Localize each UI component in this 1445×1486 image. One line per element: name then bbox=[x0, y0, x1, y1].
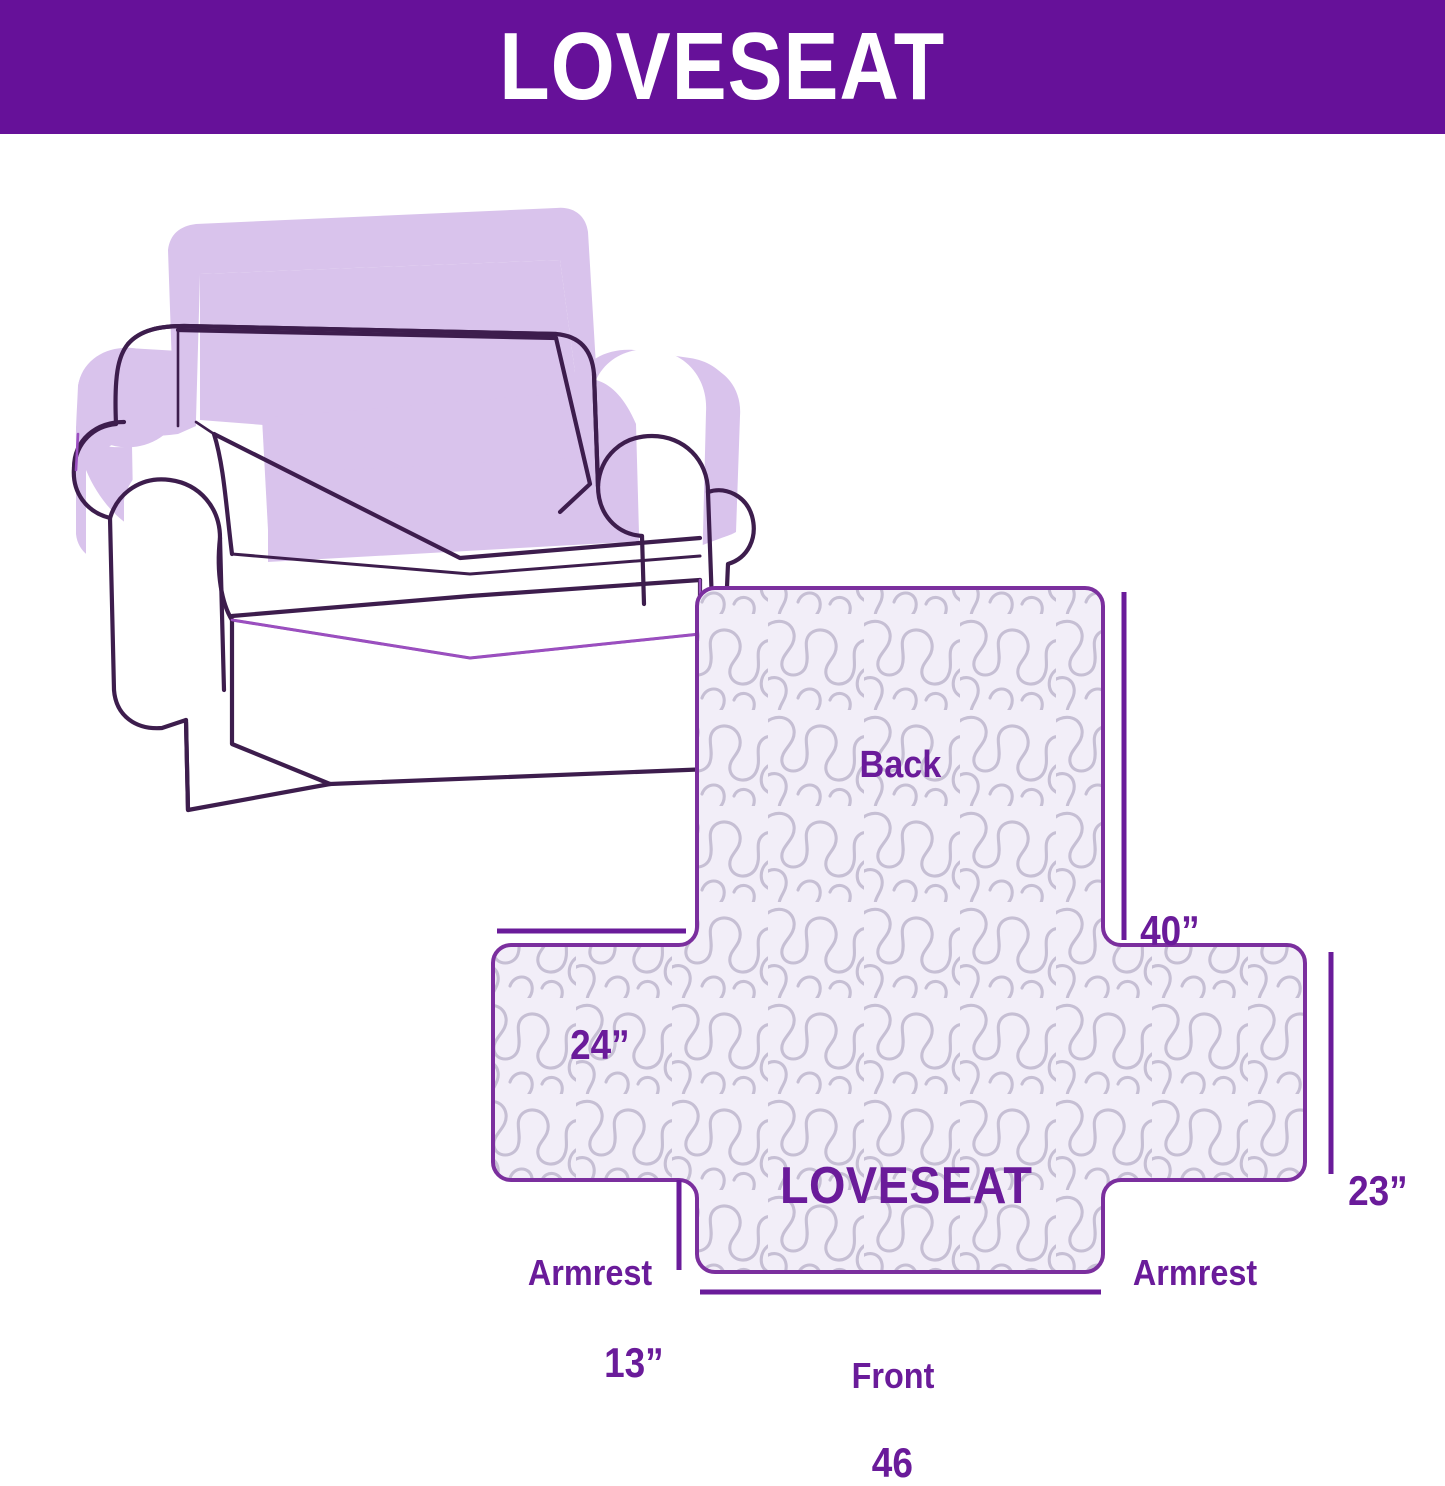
panel-label-loveseat: LOVESEAT bbox=[780, 1160, 1032, 1212]
dimension-label-front-height: 13” bbox=[604, 1342, 664, 1384]
panel-label-armrest-left: Armrest bbox=[528, 1255, 652, 1291]
dimension-label-armrest-height: 23” bbox=[1348, 1170, 1408, 1212]
diagram-stage: Back LOVESEAT Armrest Armrest Front 40” … bbox=[0, 134, 1445, 1445]
dimension-label-back-height: 40” bbox=[1140, 910, 1200, 952]
panel-label-front: Front bbox=[852, 1358, 935, 1394]
dimension-label-back-offset: 24” bbox=[570, 1024, 630, 1066]
panel-label-back: Back bbox=[860, 746, 942, 784]
diagram-canvas bbox=[0, 134, 1445, 1445]
loveseat-illustration bbox=[74, 208, 770, 810]
panel-label-armrest-right: Armrest bbox=[1133, 1255, 1257, 1291]
dimension-label-front-width: 46 bbox=[872, 1442, 913, 1484]
page-title: LOVESEAT bbox=[500, 19, 946, 115]
header-banner: LOVESEAT bbox=[0, 0, 1445, 134]
